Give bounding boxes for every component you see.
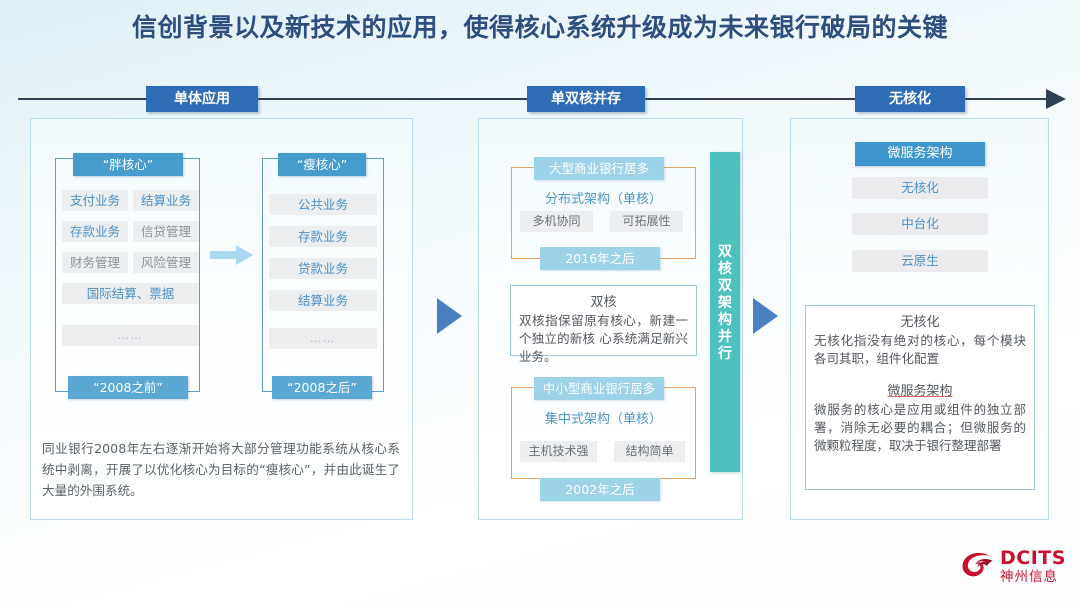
fat-core-item-2: 存款业务 xyxy=(62,221,128,242)
large-bank-tag-1: 可拓展性 xyxy=(610,211,683,232)
timeline-stage-3[interactable]: 无核化 xyxy=(855,86,965,112)
thin-core-item-2: 贷款业务 xyxy=(269,258,377,279)
fat-core-item-4: 财务管理 xyxy=(62,252,128,273)
dual-core-card: 双核 双核指保留原有核心，新建一个独立的新核 心系统满足新兴业务。 xyxy=(510,285,697,356)
timeline-arrow-icon xyxy=(1046,89,1066,109)
small-bank-frame xyxy=(511,387,696,479)
coreless-card-title-2: 微服务架构 xyxy=(806,380,1034,399)
fat-core-item-6: 国际结算、票据 xyxy=(62,283,199,304)
small-bank-era: 2002年之后 xyxy=(540,478,660,501)
thin-core-item-1: 存款业务 xyxy=(269,226,377,247)
thin-core-era: “2008之后” xyxy=(272,376,372,399)
dual-core-card-title: 双核 xyxy=(511,291,696,310)
stage-arrow-2-icon xyxy=(753,298,778,334)
fat-core-item-5: 风险管理 xyxy=(133,252,199,273)
coreless-card-title-1: 无核化 xyxy=(806,311,1034,330)
thin-core-title: “瘦核心” xyxy=(278,153,366,176)
microservice-pill-0: 无核化 xyxy=(852,177,988,199)
coreless-card-body-1: 无核化指没有绝对的核心，每个模块各司其职，组件化配置 xyxy=(806,330,1034,368)
stage-arrow-1-icon xyxy=(437,298,462,334)
small-bank-tag-1: 结构简单 xyxy=(614,441,685,462)
dual-core-card-body: 双核指保留原有核心，新建一个独立的新核 心系统满足新兴业务。 xyxy=(511,310,696,366)
small-bank-title: 中小型商业银行居多 xyxy=(534,377,664,400)
microservice-title: 微服务架构 xyxy=(855,142,985,166)
thin-core-item-0: 公共业务 xyxy=(269,194,377,215)
timeline-stage-1[interactable]: 单体应用 xyxy=(146,86,258,112)
timeline: 单体应用 单双核并存 无核化 xyxy=(0,86,1080,112)
coreless-card-body-2: 微服务的核心是应用或组件的独立部署，消除无必要的耦合；但微服务的微颗粒程度，取决… xyxy=(806,399,1034,455)
page-title: 信创背景以及新技术的应用，使得核心系统升级成为未来银行破局的关键 xyxy=(0,8,1080,44)
microservice-pill-2: 云原生 xyxy=(852,250,988,272)
large-bank-era: 2016年之后 xyxy=(540,247,660,270)
brand-logo: DCITS 神州信息 xyxy=(960,548,1072,594)
timeline-stage-2[interactable]: 单双核并存 xyxy=(527,86,645,112)
transition-arrow-icon xyxy=(210,244,254,266)
panel1-note: 同业银行2008年左右逐渐开始将大部分管理功能系统从核心系统中剥离，开展了以优化… xyxy=(42,438,400,501)
microservice-pill-1: 中台化 xyxy=(852,213,988,235)
small-bank-tag-0: 主机技术强 xyxy=(520,441,597,462)
thin-core-item-3: 结算业务 xyxy=(269,290,377,311)
large-bank-title: 大型商业银行居多 xyxy=(534,157,664,180)
logo-text: DCITS 神州信息 xyxy=(1000,548,1066,586)
large-bank-tag-0: 多机协同 xyxy=(520,211,593,232)
fat-core-item-0: 支付业务 xyxy=(62,190,128,211)
large-bank-subtitle: 分布式架构（单核） xyxy=(511,188,696,207)
fat-core-item-3: 信贷管理 xyxy=(133,221,199,242)
fat-core-title: “胖核心” xyxy=(73,153,183,176)
logo-text-cn: 神州信息 xyxy=(1000,569,1066,586)
dcits-swirl-icon xyxy=(960,550,996,584)
fat-core-era: “2008之前” xyxy=(68,376,188,399)
small-bank-subtitle: 集中式架构（单核） xyxy=(511,408,696,427)
thin-core-item-4: …… xyxy=(269,328,377,349)
fat-core-item-7: …… xyxy=(62,325,199,346)
coreless-card: 无核化 无核化指没有绝对的核心，每个模块各司其职，组件化配置 微服务架构 微服务… xyxy=(805,305,1035,490)
fat-core-item-1: 结算业务 xyxy=(133,190,199,211)
logo-text-en: DCITS xyxy=(1000,548,1066,569)
dual-core-parallel-label: 双核双架构并行 xyxy=(716,244,734,363)
dual-core-parallel-bar: 双核双架构并行 xyxy=(710,152,740,472)
